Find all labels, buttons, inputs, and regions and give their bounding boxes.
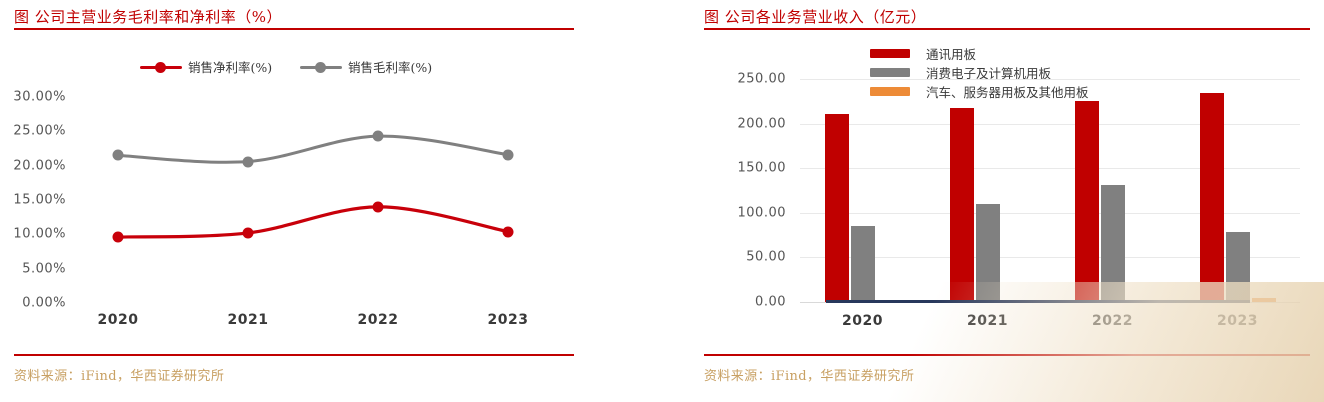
left-y-axis-tick: 30.00% [13, 90, 66, 105]
left-x-axis-tick: 2021 [228, 312, 269, 328]
right-bar [950, 108, 974, 302]
right-bar [976, 204, 1000, 302]
legend-item-net-margin: 销售净利率(%) [140, 57, 272, 76]
right-x-axis-tick: 2023 [1217, 313, 1258, 329]
legend-marker-communication-board [870, 49, 910, 58]
left-data-point [113, 232, 124, 243]
left-y-axis-tick: 10.00% [13, 227, 66, 242]
legend-item-communication-board: 通讯用板 [870, 44, 976, 63]
left-line-series-group [78, 97, 548, 303]
legend-marker-consumer-board [870, 68, 910, 77]
right-y-axis-tick: 250.00 [738, 72, 787, 87]
right-bar [1075, 101, 1099, 302]
right-gridline [800, 168, 1300, 169]
left-data-point [503, 149, 514, 160]
left-x-axis-tick: 2023 [488, 312, 529, 328]
right-plot-area: 0.0050.00100.00150.00200.00250.002020202… [800, 79, 1300, 302]
left-data-point [503, 226, 514, 237]
left-data-point [243, 227, 254, 238]
left-figure-title: 图 公司主营业务毛利率和净利率（%） [14, 6, 282, 27]
right-gridline [800, 213, 1300, 214]
right-bar [1200, 93, 1224, 302]
left-y-axis-tick: 20.00% [13, 158, 66, 173]
legend-label-net-margin: 销售净利率(%) [188, 57, 272, 76]
right-gridline [800, 79, 1300, 80]
right-title-rule [704, 28, 1310, 30]
right-x-axis-tick: 2021 [967, 313, 1008, 329]
right-y-axis-tick: 100.00 [738, 205, 787, 220]
legend-label-communication-board: 通讯用板 [926, 44, 976, 63]
right-bar [1252, 298, 1276, 302]
left-data-point [373, 131, 384, 142]
left-data-point [373, 201, 384, 212]
left-data-point [243, 156, 254, 167]
left-title-rule [14, 28, 574, 30]
right-figure-title: 图 公司各业务营业收入（亿元） [704, 6, 926, 27]
left-y-axis-tick: 25.00% [13, 124, 66, 139]
right-y-axis-tick: 200.00 [738, 116, 787, 131]
right-x-axis-tick: 2022 [1092, 313, 1133, 329]
right-bar [851, 226, 875, 302]
left-data-point [113, 150, 124, 161]
right-baseline-series [826, 300, 1250, 303]
left-plot-area: 0.00%5.00%10.00%15.00%20.00%25.00%30.00%… [78, 97, 548, 303]
right-y-axis-tick: 50.00 [746, 250, 786, 265]
legend-item-gross-margin: 销售毛利率(%) [300, 57, 432, 76]
right-gridline [800, 124, 1300, 125]
left-y-axis-tick: 5.00% [22, 261, 66, 276]
left-chart-panel: 图 公司主营业务毛利率和净利率（%） 销售净利率(%) 销售毛利率(%) 0.0… [0, 0, 620, 402]
right-y-axis-tick: 150.00 [738, 161, 787, 176]
right-bar [1101, 185, 1125, 302]
right-x-axis-tick: 2020 [842, 313, 883, 329]
right-y-axis-tick: 0.00 [755, 295, 786, 310]
legend-marker-net-margin [140, 61, 182, 73]
legend-label-gross-margin: 销售毛利率(%) [348, 57, 432, 76]
left-line-path [118, 136, 508, 162]
left-x-axis-tick: 2020 [98, 312, 139, 328]
legend-marker-gross-margin [300, 61, 342, 73]
left-line-path [118, 207, 508, 237]
right-chart-panel: 图 公司各业务营业收入（亿元） 通讯用板 消费电子及计算机用板 汽车、服务器用板… [690, 0, 1324, 402]
left-y-axis-tick: 15.00% [13, 193, 66, 208]
left-x-axis-tick: 2022 [358, 312, 399, 328]
right-bar [1226, 232, 1250, 302]
right-bar [825, 114, 849, 302]
left-y-axis-tick: 0.00% [22, 296, 66, 311]
